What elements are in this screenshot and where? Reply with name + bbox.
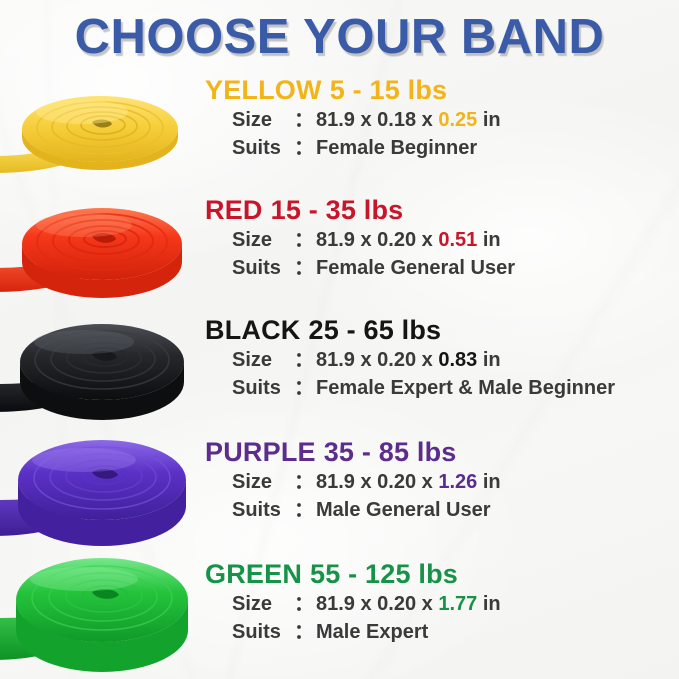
- band-image-black: [0, 312, 207, 432]
- size-colon: ：: [294, 226, 316, 254]
- suits-value: Male General User: [316, 496, 491, 524]
- band-resistance: 25 - 65 lbs: [309, 315, 442, 345]
- size-label: Size: [232, 468, 294, 496]
- band-heading-black: BLACK25 - 65 lbs: [205, 312, 679, 346]
- band-row-red: RED15 - 35 lbs Size ： 81.9 x 0.20 x 0.51…: [0, 192, 679, 312]
- size-value: 81.9 x 0.20 x 1.26 in: [316, 468, 501, 496]
- size-thickness: 1.26: [438, 471, 477, 493]
- band-image-purple: [0, 434, 207, 554]
- band-suits-row: Suits ： Female General User: [205, 254, 679, 282]
- band-row-black: BLACK25 - 65 lbs Size ： 81.9 x 0.20 x 0.…: [0, 312, 679, 432]
- product-infographic: CHOOSE YOUR BAND: [0, 0, 679, 679]
- size-value: 81.9 x 0.20 x 0.83 in: [316, 346, 501, 374]
- size-label: Size: [232, 346, 294, 374]
- band-resistance: 5 - 15 lbs: [330, 75, 448, 105]
- band-text-yellow: YELLOW5 - 15 lbs Size ： 81.9 x 0.18 x 0.…: [205, 72, 679, 192]
- band-row-yellow: YELLOW5 - 15 lbs Size ： 81.9 x 0.18 x 0.…: [0, 72, 679, 192]
- band-size-row: Size ： 81.9 x 0.20 x 1.77 in: [205, 590, 679, 618]
- suits-label: Suits: [232, 374, 294, 402]
- band-suits-row: Suits ： Male General User: [205, 496, 679, 524]
- size-thickness: 0.51: [438, 229, 477, 251]
- band-size-row: Size ： 81.9 x 0.20 x 1.26 in: [205, 468, 679, 496]
- size-prefix: 81.9 x 0.20 x: [316, 471, 433, 493]
- size-label: Size: [232, 226, 294, 254]
- band-suits-row: Suits ： Female Expert & Male Beginner: [205, 374, 679, 402]
- size-label: Size: [232, 106, 294, 134]
- suits-value: Female Expert & Male Beginner: [316, 374, 615, 402]
- band-text-green: GREEN55 - 125 lbs Size ： 81.9 x 0.20 x 1…: [205, 556, 679, 676]
- band-name: PURPLE: [205, 437, 316, 467]
- band-row-purple: PURPLE35 - 85 lbs Size ： 81.9 x 0.20 x 1…: [0, 434, 679, 554]
- size-thickness: 0.25: [438, 109, 477, 131]
- size-prefix: 81.9 x 0.20 x: [316, 349, 433, 371]
- suits-value: Female Beginner: [316, 134, 477, 162]
- suits-colon: ：: [294, 254, 316, 282]
- band-name: YELLOW: [205, 75, 322, 105]
- size-unit: in: [483, 471, 501, 493]
- size-colon: ：: [294, 106, 316, 134]
- suits-colon: ：: [294, 374, 316, 402]
- size-prefix: 81.9 x 0.20 x: [316, 593, 433, 615]
- size-value: 81.9 x 0.18 x 0.25 in: [316, 106, 501, 134]
- band-size-row: Size ： 81.9 x 0.18 x 0.25 in: [205, 106, 679, 134]
- band-resistance: 15 - 35 lbs: [271, 195, 404, 225]
- band-heading-yellow: YELLOW5 - 15 lbs: [205, 72, 679, 106]
- size-prefix: 81.9 x 0.18 x: [316, 109, 433, 131]
- suits-colon: ：: [294, 496, 316, 524]
- band-heading-purple: PURPLE35 - 85 lbs: [205, 434, 679, 468]
- band-text-black: BLACK25 - 65 lbs Size ： 81.9 x 0.20 x 0.…: [205, 312, 679, 432]
- band-row-green: GREEN55 - 125 lbs Size ： 81.9 x 0.20 x 1…: [0, 556, 679, 676]
- suits-label: Suits: [232, 254, 294, 282]
- band-image-green: [0, 556, 207, 676]
- suits-label: Suits: [232, 618, 294, 646]
- size-unit: in: [483, 593, 501, 615]
- band-text-red: RED15 - 35 lbs Size ： 81.9 x 0.20 x 0.51…: [205, 192, 679, 312]
- band-suits-row: Suits ： Female Beginner: [205, 134, 679, 162]
- size-thickness: 0.83: [438, 349, 477, 371]
- size-prefix: 81.9 x 0.20 x: [316, 229, 433, 251]
- band-size-row: Size ： 81.9 x 0.20 x 0.83 in: [205, 346, 679, 374]
- band-size-row: Size ： 81.9 x 0.20 x 0.51 in: [205, 226, 679, 254]
- suits-value: Female General User: [316, 254, 515, 282]
- band-name: BLACK: [205, 315, 301, 345]
- suits-colon: ：: [294, 134, 316, 162]
- size-unit: in: [483, 229, 501, 251]
- band-heading-green: GREEN55 - 125 lbs: [205, 556, 679, 590]
- band-resistance: 35 - 85 lbs: [324, 437, 457, 467]
- suits-colon: ：: [294, 618, 316, 646]
- size-colon: ：: [294, 346, 316, 374]
- suits-label: Suits: [232, 134, 294, 162]
- page-title: CHOOSE YOUR BAND: [0, 8, 679, 66]
- band-name: RED: [205, 195, 263, 225]
- size-label: Size: [232, 590, 294, 618]
- size-value: 81.9 x 0.20 x 0.51 in: [316, 226, 501, 254]
- size-unit: in: [483, 109, 501, 131]
- size-value: 81.9 x 0.20 x 1.77 in: [316, 590, 501, 618]
- band-resistance: 55 - 125 lbs: [310, 559, 458, 589]
- suits-value: Male Expert: [316, 618, 428, 646]
- size-unit: in: [483, 349, 501, 371]
- band-image-red: [0, 192, 207, 312]
- suits-label: Suits: [232, 496, 294, 524]
- band-suits-row: Suits ： Male Expert: [205, 618, 679, 646]
- band-name: GREEN: [205, 559, 302, 589]
- size-thickness: 1.77: [438, 593, 477, 615]
- band-heading-red: RED15 - 35 lbs: [205, 192, 679, 226]
- size-colon: ：: [294, 590, 316, 618]
- band-text-purple: PURPLE35 - 85 lbs Size ： 81.9 x 0.20 x 1…: [205, 434, 679, 554]
- band-image-yellow: [0, 72, 207, 192]
- size-colon: ：: [294, 468, 316, 496]
